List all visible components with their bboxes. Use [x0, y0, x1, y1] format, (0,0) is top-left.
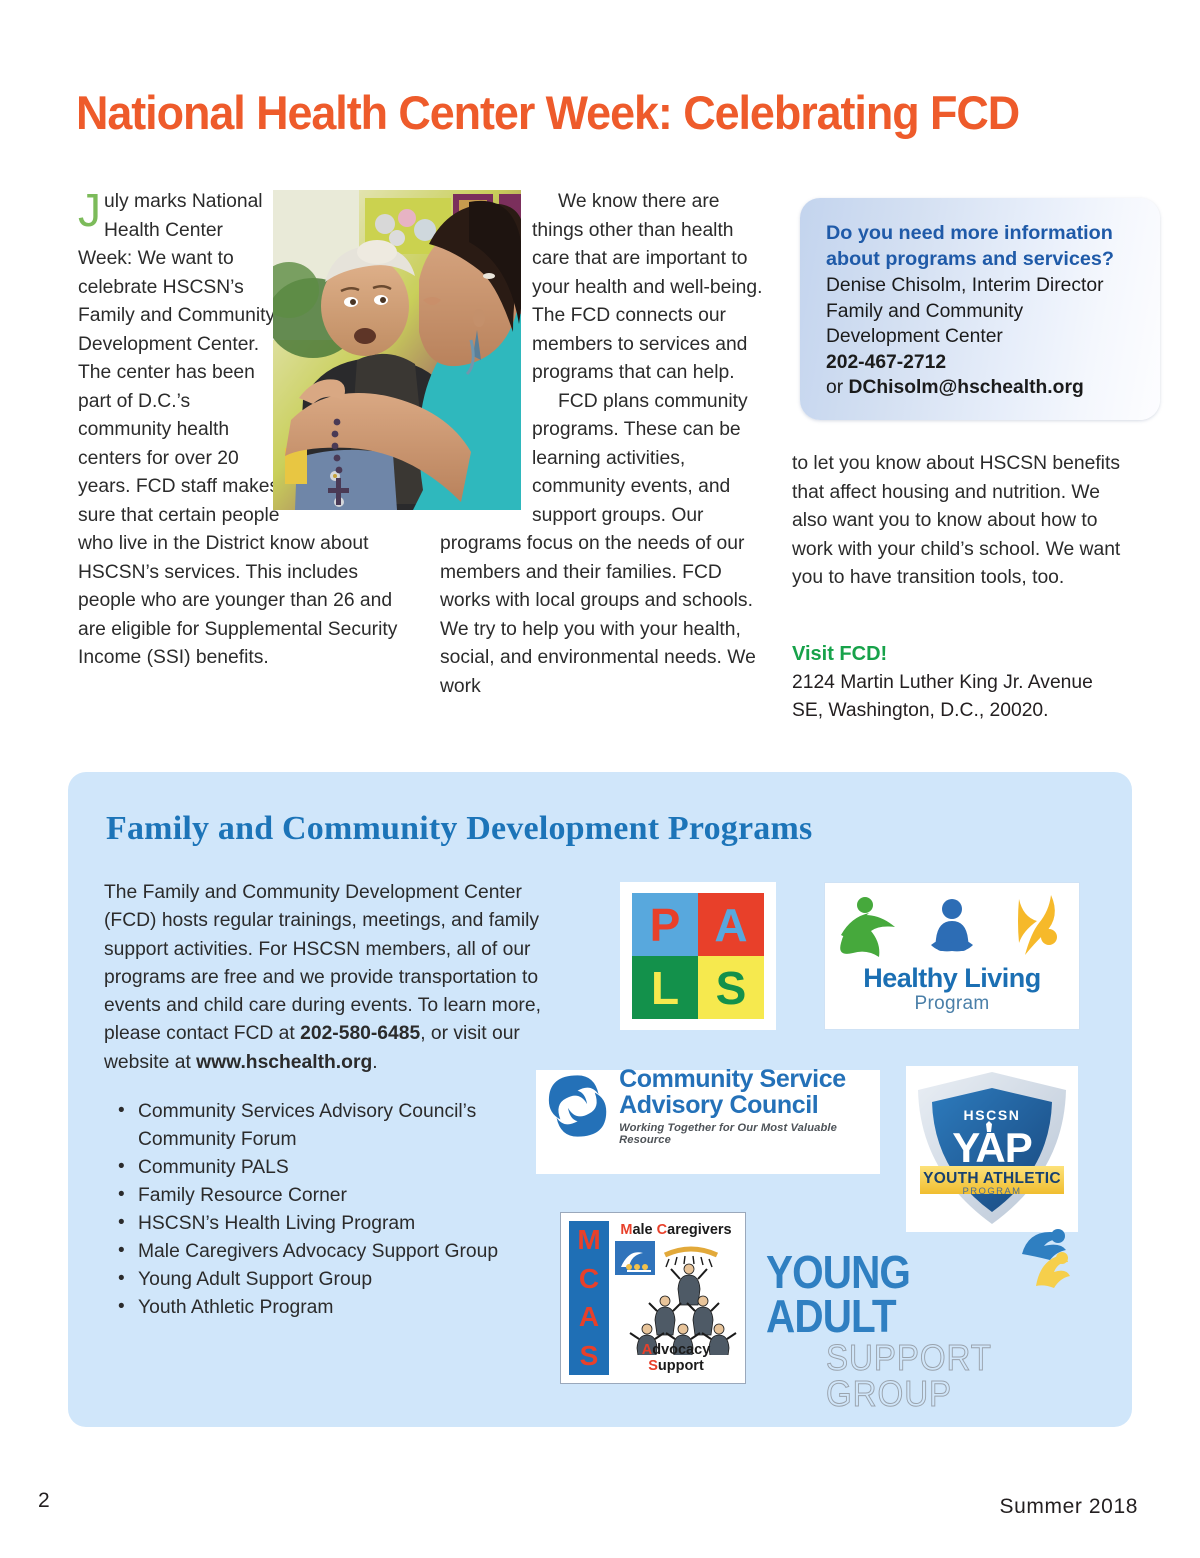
community-service-advisory-council-logo: Community Service Advisory Council Worki…: [536, 1070, 880, 1174]
pals-letter-l: L: [632, 956, 698, 1019]
csac-swirl-icon: [546, 1072, 609, 1140]
young-adult-line2: SUPPORT GROUP: [826, 1340, 1056, 1412]
dropcap-letter: J: [78, 188, 103, 230]
pals-letter-s: S: [698, 956, 764, 1019]
young-adult-line1: YOUNG ADULT: [766, 1250, 1039, 1338]
mcas-top-c: C: [657, 1222, 667, 1238]
mcas-letter-s: S: [580, 1342, 599, 1370]
list-item: Youth Athletic Program: [116, 1294, 576, 1322]
male-caregivers-advocacy-support-logo: M C A S Male Caregivers: [560, 1212, 746, 1384]
mcas-letter-a: A: [579, 1303, 599, 1331]
healthy-living-title: Healthy Living: [825, 963, 1079, 994]
mcas-top-text: Male Caregivers: [613, 1222, 739, 1238]
pals-letter-p: P: [632, 893, 698, 956]
youth-athletic-program-logo: HSCSN YAP YOUTH ATHLETIC PROGRAM: [906, 1066, 1078, 1232]
programs-panel-body: The Family and Community Development Cen…: [104, 879, 574, 1077]
panel-body-part3: .: [372, 1052, 377, 1073]
programs-list: Community Services Advisory Council’s Co…: [116, 1098, 576, 1322]
panel-body-phone[interactable]: 202-580-6485: [300, 1023, 420, 1044]
callout-phone[interactable]: 202-467-2712: [826, 352, 946, 373]
panel-body-part1: The Family and Community Development Cen…: [104, 882, 541, 1044]
green-figure-icon: [839, 895, 897, 957]
healthy-living-subtitle: Program: [825, 993, 1079, 1015]
pals-letter-a: A: [698, 893, 764, 956]
svg-text:YAP: YAP: [952, 1124, 1032, 1171]
list-item: Family Resource Corner: [116, 1182, 576, 1210]
callout-dept-line1: Family and Community: [826, 301, 1023, 322]
list-item: Young Adult Support Group: [116, 1266, 576, 1294]
list-item: Male Caregivers Advocacy Support Group: [116, 1238, 576, 1266]
mcas-bot-s: S: [648, 1358, 658, 1374]
list-item: HSCSN’s Health Living Program: [116, 1210, 576, 1238]
yap-shield-icon: HSCSN YAP YOUTH ATHLETIC PROGRAM: [906, 1066, 1078, 1232]
footer-page-number: 2: [38, 1489, 50, 1513]
mcas-top-ale: ale: [632, 1222, 656, 1238]
mcas-letter-m: M: [577, 1226, 600, 1254]
callout-question: Do you need more information about progr…: [826, 220, 1140, 272]
list-item: Community PALS: [116, 1154, 576, 1182]
svg-text:YOUTH ATHLETIC: YOUTH ATHLETIC: [923, 1170, 1061, 1187]
mcas-bot-upport: upport: [658, 1358, 704, 1374]
list-item: Community Services Advisory Council’s Co…: [116, 1098, 576, 1154]
callout-email-prefix: or: [826, 377, 849, 398]
mcas-bottom-text: Advocacy Support: [613, 1342, 739, 1374]
blue-figure-icon: [923, 895, 981, 957]
yellow-figure-icon: [1007, 895, 1065, 957]
mcas-pyramid-icon: [613, 1237, 741, 1355]
csac-line1: Community Service: [619, 1066, 880, 1092]
article-top: J uly marks National Health Center Week:…: [0, 0, 1200, 760]
mcas-top-aregivers: aregivers: [667, 1222, 732, 1238]
panel-body-website[interactable]: www.hschealth.org: [196, 1052, 372, 1073]
visit-fcd-heading: Visit FCD!: [792, 640, 1136, 669]
csac-line2: Advisory Council: [619, 1092, 880, 1118]
callout-email[interactable]: DChisolm@hschealth.org: [849, 377, 1084, 398]
callout-dept-line2: Development Center: [826, 326, 1003, 347]
photo-mother-and-child: [273, 190, 521, 510]
programs-panel: Family and Community Development Program…: [68, 772, 1132, 1427]
mcas-bot-a: A: [642, 1342, 652, 1358]
article-column-3: to let you know about HSCSN benefits tha…: [792, 450, 1136, 593]
mcas-sidebar-letters: M C A S: [569, 1221, 609, 1375]
healthy-living-logo: Healthy Living Program: [824, 882, 1080, 1030]
svg-text:HSCSN: HSCSN: [963, 1107, 1020, 1123]
csac-tagline: Working Together for Our Most Valuable R…: [619, 1122, 880, 1146]
programs-panel-title: Family and Community Development Program…: [106, 810, 812, 848]
callout-contact-name: Denise Chisolm, Interim Director: [826, 275, 1104, 296]
visit-fcd-block: Visit FCD! 2124 Martin Luther King Jr. A…: [792, 640, 1136, 726]
column3-paragraph-1: to let you know about HSCSN benefits tha…: [792, 450, 1136, 593]
visit-address-line1: 2124 Martin Luther King Jr. Avenue: [792, 669, 1136, 698]
pals-logo: P A L S: [620, 882, 776, 1030]
young-adult-support-group-logo: YOUNG ADULT SUPPORT GROUP: [766, 1250, 1076, 1368]
footer-issue: Summer 2018: [1000, 1495, 1139, 1519]
mcas-letter-c: C: [579, 1265, 599, 1293]
contact-info-callout: Do you need more information about progr…: [800, 198, 1160, 420]
mcas-top-m: M: [620, 1222, 632, 1238]
mcas-bot-dvocacy: dvocacy: [652, 1342, 710, 1358]
svg-text:PROGRAM: PROGRAM: [963, 1186, 1022, 1197]
visit-address-line2: SE, Washington, D.C., 20020.: [792, 697, 1136, 726]
